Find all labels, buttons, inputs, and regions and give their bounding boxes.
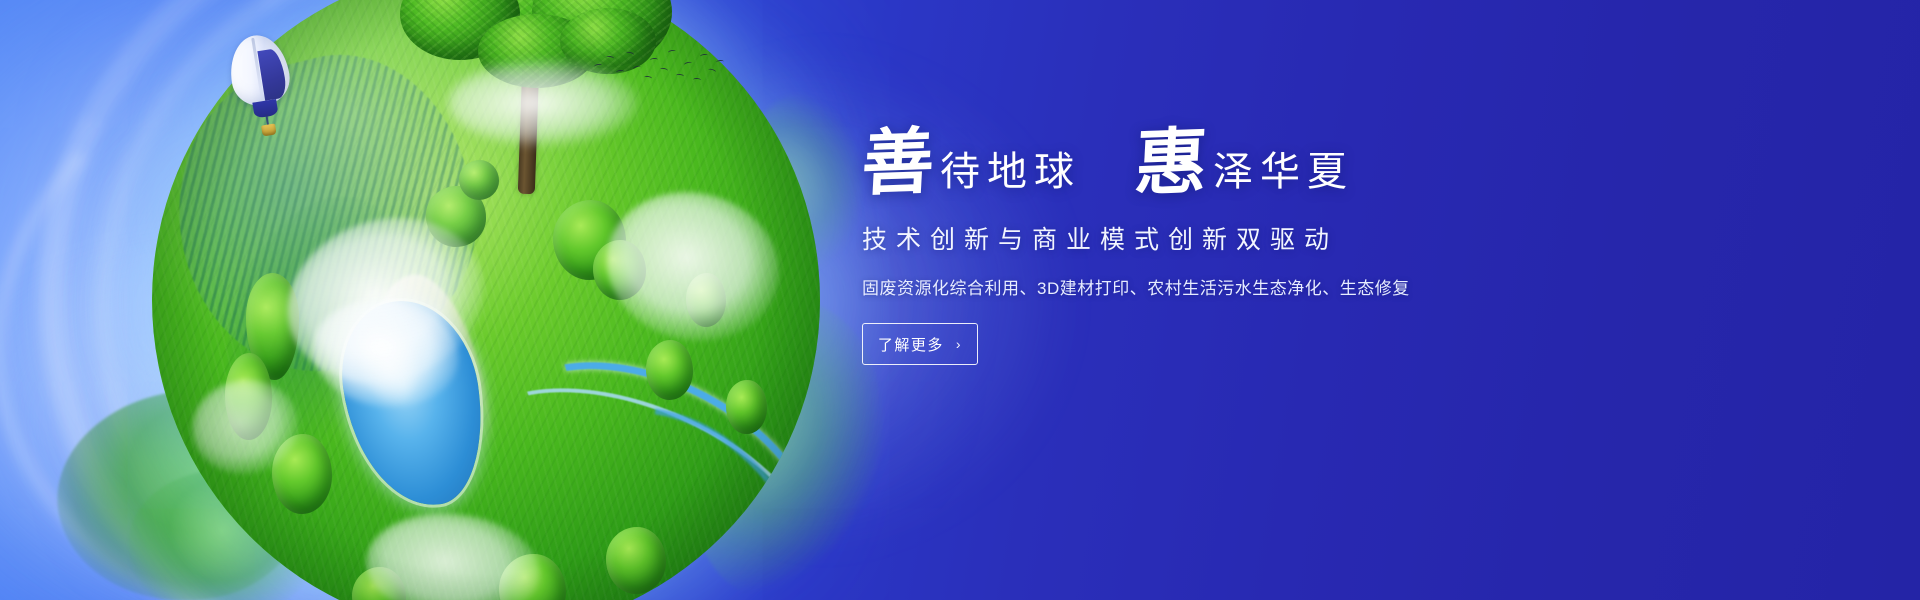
- learn-more-label: 了解更多: [878, 334, 944, 355]
- tree-cluster-icon: [646, 340, 693, 400]
- headline-part1-rest: 待地球: [940, 152, 1081, 198]
- cloud-icon: [306, 290, 466, 416]
- tree-cluster-icon: [606, 527, 666, 594]
- tree-cluster-icon: [246, 273, 299, 380]
- hero-content: 善 待地球 惠 泽华夏 技术创新与商业模式创新双驱动 固废资源化综合利用、3D建…: [862, 126, 1622, 365]
- learn-more-button[interactable]: 了解更多 ›: [862, 323, 978, 365]
- tree-cluster-icon: [593, 240, 646, 300]
- balloon-basket: [261, 123, 277, 136]
- cloud-icon: [266, 193, 506, 407]
- tree-cluster-icon: [686, 273, 726, 326]
- subtitle: 技术创新与商业模式创新双驱动: [862, 220, 1622, 256]
- tree-cluster-icon: [272, 434, 332, 514]
- lake-highlight: [347, 319, 431, 415]
- tree-cluster-icon: [726, 380, 766, 433]
- hero-banner: 善 待地球 惠 泽华夏 技术创新与商业模式创新双驱动 固废资源化综合利用、3D建…: [0, 0, 1920, 600]
- river-icon: [512, 358, 820, 600]
- large-tree-icon: [392, 0, 682, 204]
- river-icon: [440, 309, 820, 600]
- lake-icon: [332, 292, 493, 516]
- tree-cluster-icon: [553, 200, 626, 280]
- headline-part1-emphasis: 善: [860, 125, 942, 200]
- tree-cluster-icon: [499, 554, 566, 600]
- river-icon: [419, 337, 820, 600]
- cloud-icon: [186, 373, 305, 480]
- mountain-ridge: [195, 173, 443, 481]
- headline-part2-emphasis: 惠: [1133, 125, 1215, 200]
- description: 固废资源化综合利用、3D建材打印、农村生活污水生态净化、生态修复: [862, 274, 1622, 299]
- chevron-right-icon: ›: [956, 337, 962, 351]
- tree-cluster-icon: [352, 567, 405, 600]
- bird-flock-icon: [592, 48, 722, 92]
- headline-part2-rest: 泽华夏: [1213, 152, 1354, 198]
- cloud-icon: [361, 505, 545, 600]
- tree-cluster-icon: [225, 353, 272, 440]
- headline: 善 待地球 惠 泽华夏: [862, 126, 1622, 198]
- lake-shore: [359, 266, 506, 521]
